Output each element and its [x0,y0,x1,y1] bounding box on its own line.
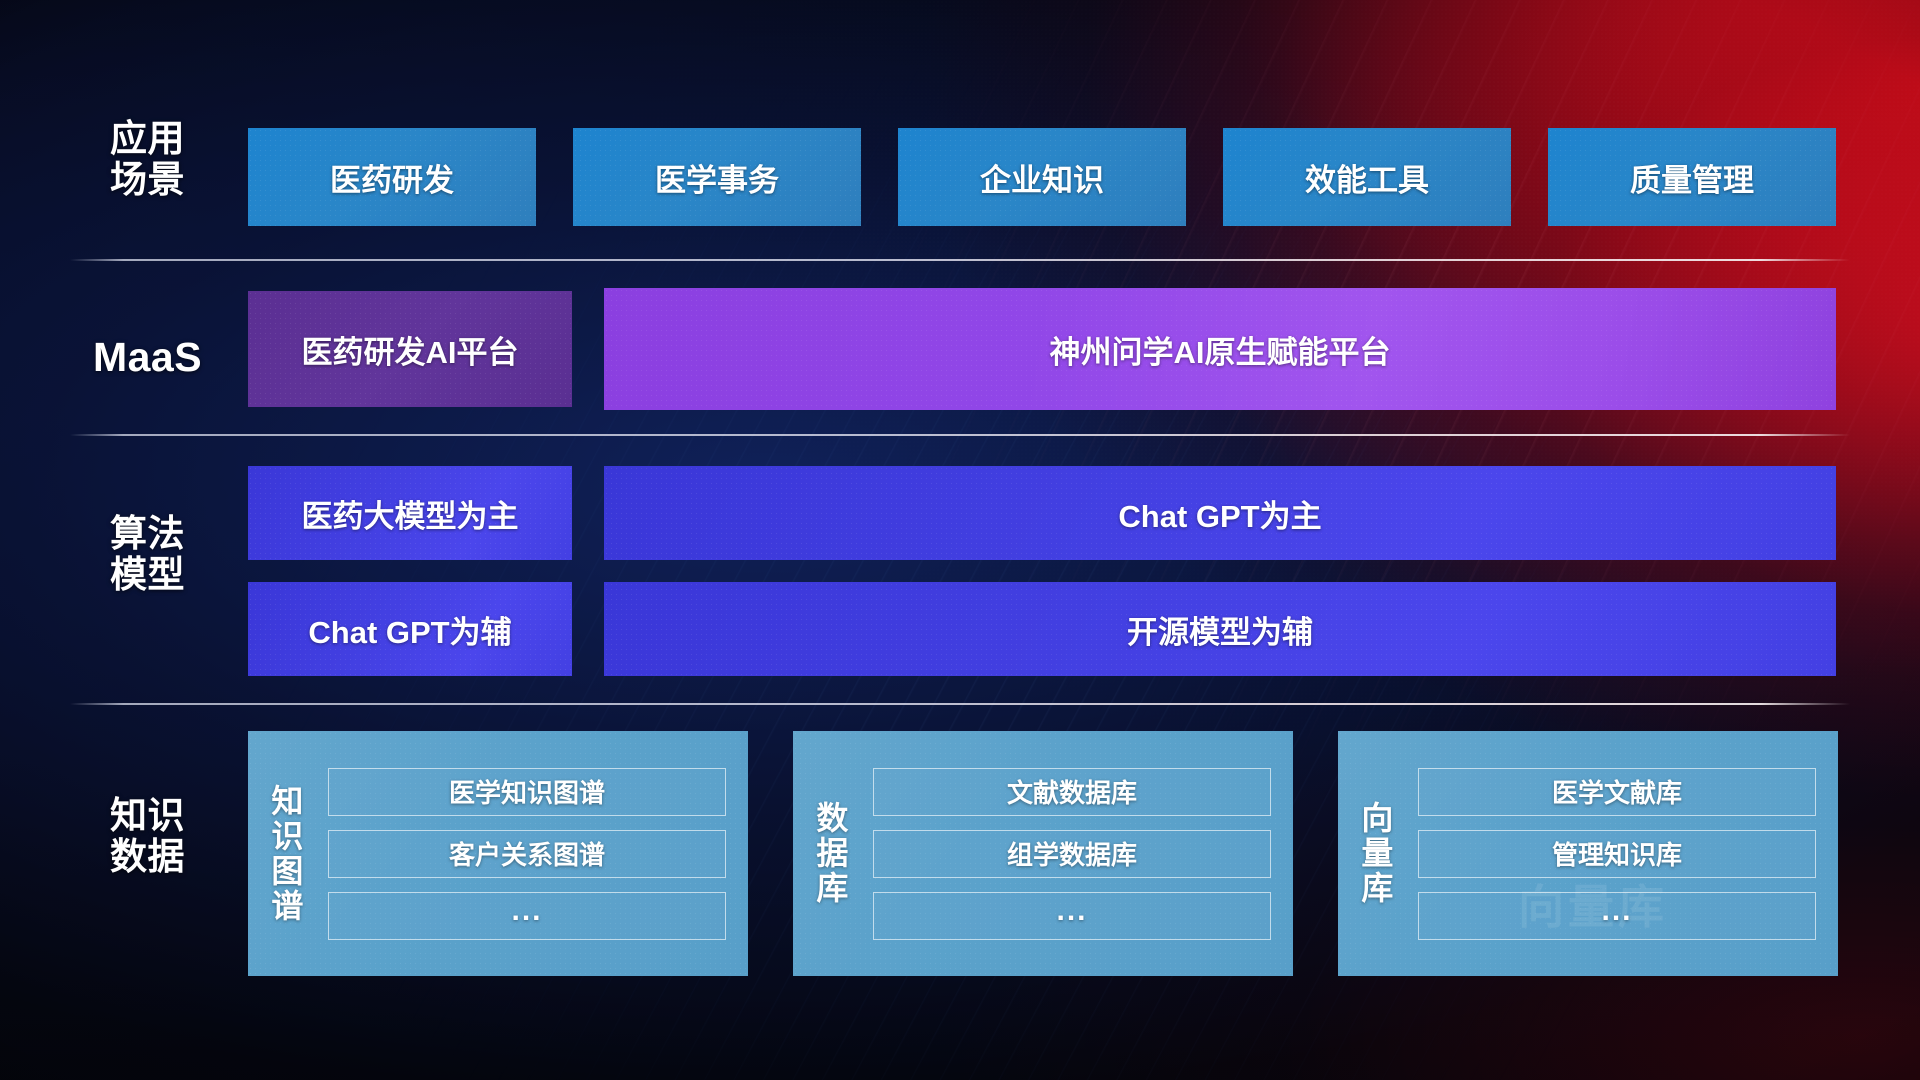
knowledge-item-more[interactable]: ... [1418,892,1816,940]
knowledge-panel-title: 向量库 [1338,731,1412,976]
row-label-application-scenarios: 应用 场景 [70,118,225,201]
row-label-line: 场景 [70,159,225,200]
app-box-label: 质量管理 [1630,155,1754,200]
knowledge-panel-items: 医学文献库 管理知识库 ... [1412,731,1838,976]
knowledge-panel-title: 知识图谱 [248,731,322,976]
knowledge-item-label: 组学数据库 [1007,835,1137,872]
divider-2 [70,434,1850,436]
row-label-maas: MaaS [70,335,225,381]
row-label-line: 模型 [70,554,225,595]
maas-box-label: 医药研发AI平台 [302,327,519,372]
maas-box-label: 神州问学AI原生赋能平台 [1050,327,1391,372]
knowledge-item[interactable]: 医学知识图谱 [328,768,726,816]
architecture-diagram: 应用 场景 医药研发 医学事务 企业知识 效能工具 质量管理 MaaS 医药研发… [0,0,1920,1080]
row-label-line: 应用 [70,118,225,159]
app-box-medical-affairs[interactable]: 医学事务 [573,128,861,226]
app-box-label: 医学事务 [655,155,779,200]
app-box-enterprise-knowledge[interactable]: 企业知识 [898,128,1186,226]
row-label-line: 算法 [70,513,225,554]
divider-1 [70,259,1850,261]
algorithm-box-label: 医药大模型为主 [302,491,519,536]
knowledge-panel-items: 医学知识图谱 客户关系图谱 ... [322,731,748,976]
knowledge-panel-title: 数据库 [793,731,867,976]
app-box-quality-management[interactable]: 质量管理 [1548,128,1836,226]
knowledge-item-label: ... [1056,894,1087,928]
algorithm-box-medicine-llm-primary[interactable]: 医药大模型为主 [248,466,572,560]
row-label-line: 知识 [70,795,225,836]
knowledge-item-label: 医学文献库 [1552,773,1682,810]
knowledge-item-label: 管理知识库 [1552,835,1682,872]
algorithm-box-label: 开源模型为辅 [1127,607,1313,652]
knowledge-item-label: 文献数据库 [1007,773,1137,810]
app-box-medicine-rd[interactable]: 医药研发 [248,128,536,226]
app-box-label: 效能工具 [1305,155,1429,200]
knowledge-item-label: ... [511,894,542,928]
knowledge-panel-knowledge-graph[interactable]: 知识图谱 医学知识图谱 客户关系图谱 ... [248,731,748,976]
knowledge-panel-items: 文献数据库 组学数据库 ... [867,731,1293,976]
knowledge-item-label: 医学知识图谱 [449,773,605,810]
row-label-knowledge-data: 知识 数据 [70,795,225,878]
row-label-line: 数据 [70,836,225,877]
algorithm-box-chatgpt-secondary[interactable]: Chat GPT为辅 [248,582,572,676]
app-box-label: 企业知识 [980,155,1104,200]
knowledge-item[interactable]: 管理知识库 [1418,830,1816,878]
row-label-line: MaaS [70,335,225,381]
algorithm-box-label: Chat GPT为主 [1118,491,1321,536]
knowledge-item[interactable]: 组学数据库 [873,830,1271,878]
row-label-algorithm-model: 算法 模型 [70,513,225,596]
app-box-label: 医药研发 [330,155,454,200]
maas-box-medicine-rd-ai-platform[interactable]: 医药研发AI平台 [248,291,572,407]
knowledge-panel-vector-database[interactable]: 向量库 向量库 医学文献库 管理知识库 ... [1338,731,1838,976]
algorithm-box-chatgpt-primary[interactable]: Chat GPT为主 [604,466,1836,560]
app-box-efficiency-tools[interactable]: 效能工具 [1223,128,1511,226]
knowledge-item-label: ... [1601,894,1632,928]
maas-box-shenzhou-wenxue-platform[interactable]: 神州问学AI原生赋能平台 [604,288,1836,410]
algorithm-box-opensource-secondary[interactable]: 开源模型为辅 [604,582,1836,676]
algorithm-box-label: Chat GPT为辅 [308,607,511,652]
knowledge-item[interactable]: 文献数据库 [873,768,1271,816]
knowledge-item[interactable]: 医学文献库 [1418,768,1816,816]
knowledge-item-more[interactable]: ... [328,892,726,940]
knowledge-item-label: 客户关系图谱 [449,835,605,872]
knowledge-item[interactable]: 客户关系图谱 [328,830,726,878]
divider-3 [70,703,1850,705]
knowledge-panel-database[interactable]: 数据库 文献数据库 组学数据库 ... [793,731,1293,976]
knowledge-item-more[interactable]: ... [873,892,1271,940]
